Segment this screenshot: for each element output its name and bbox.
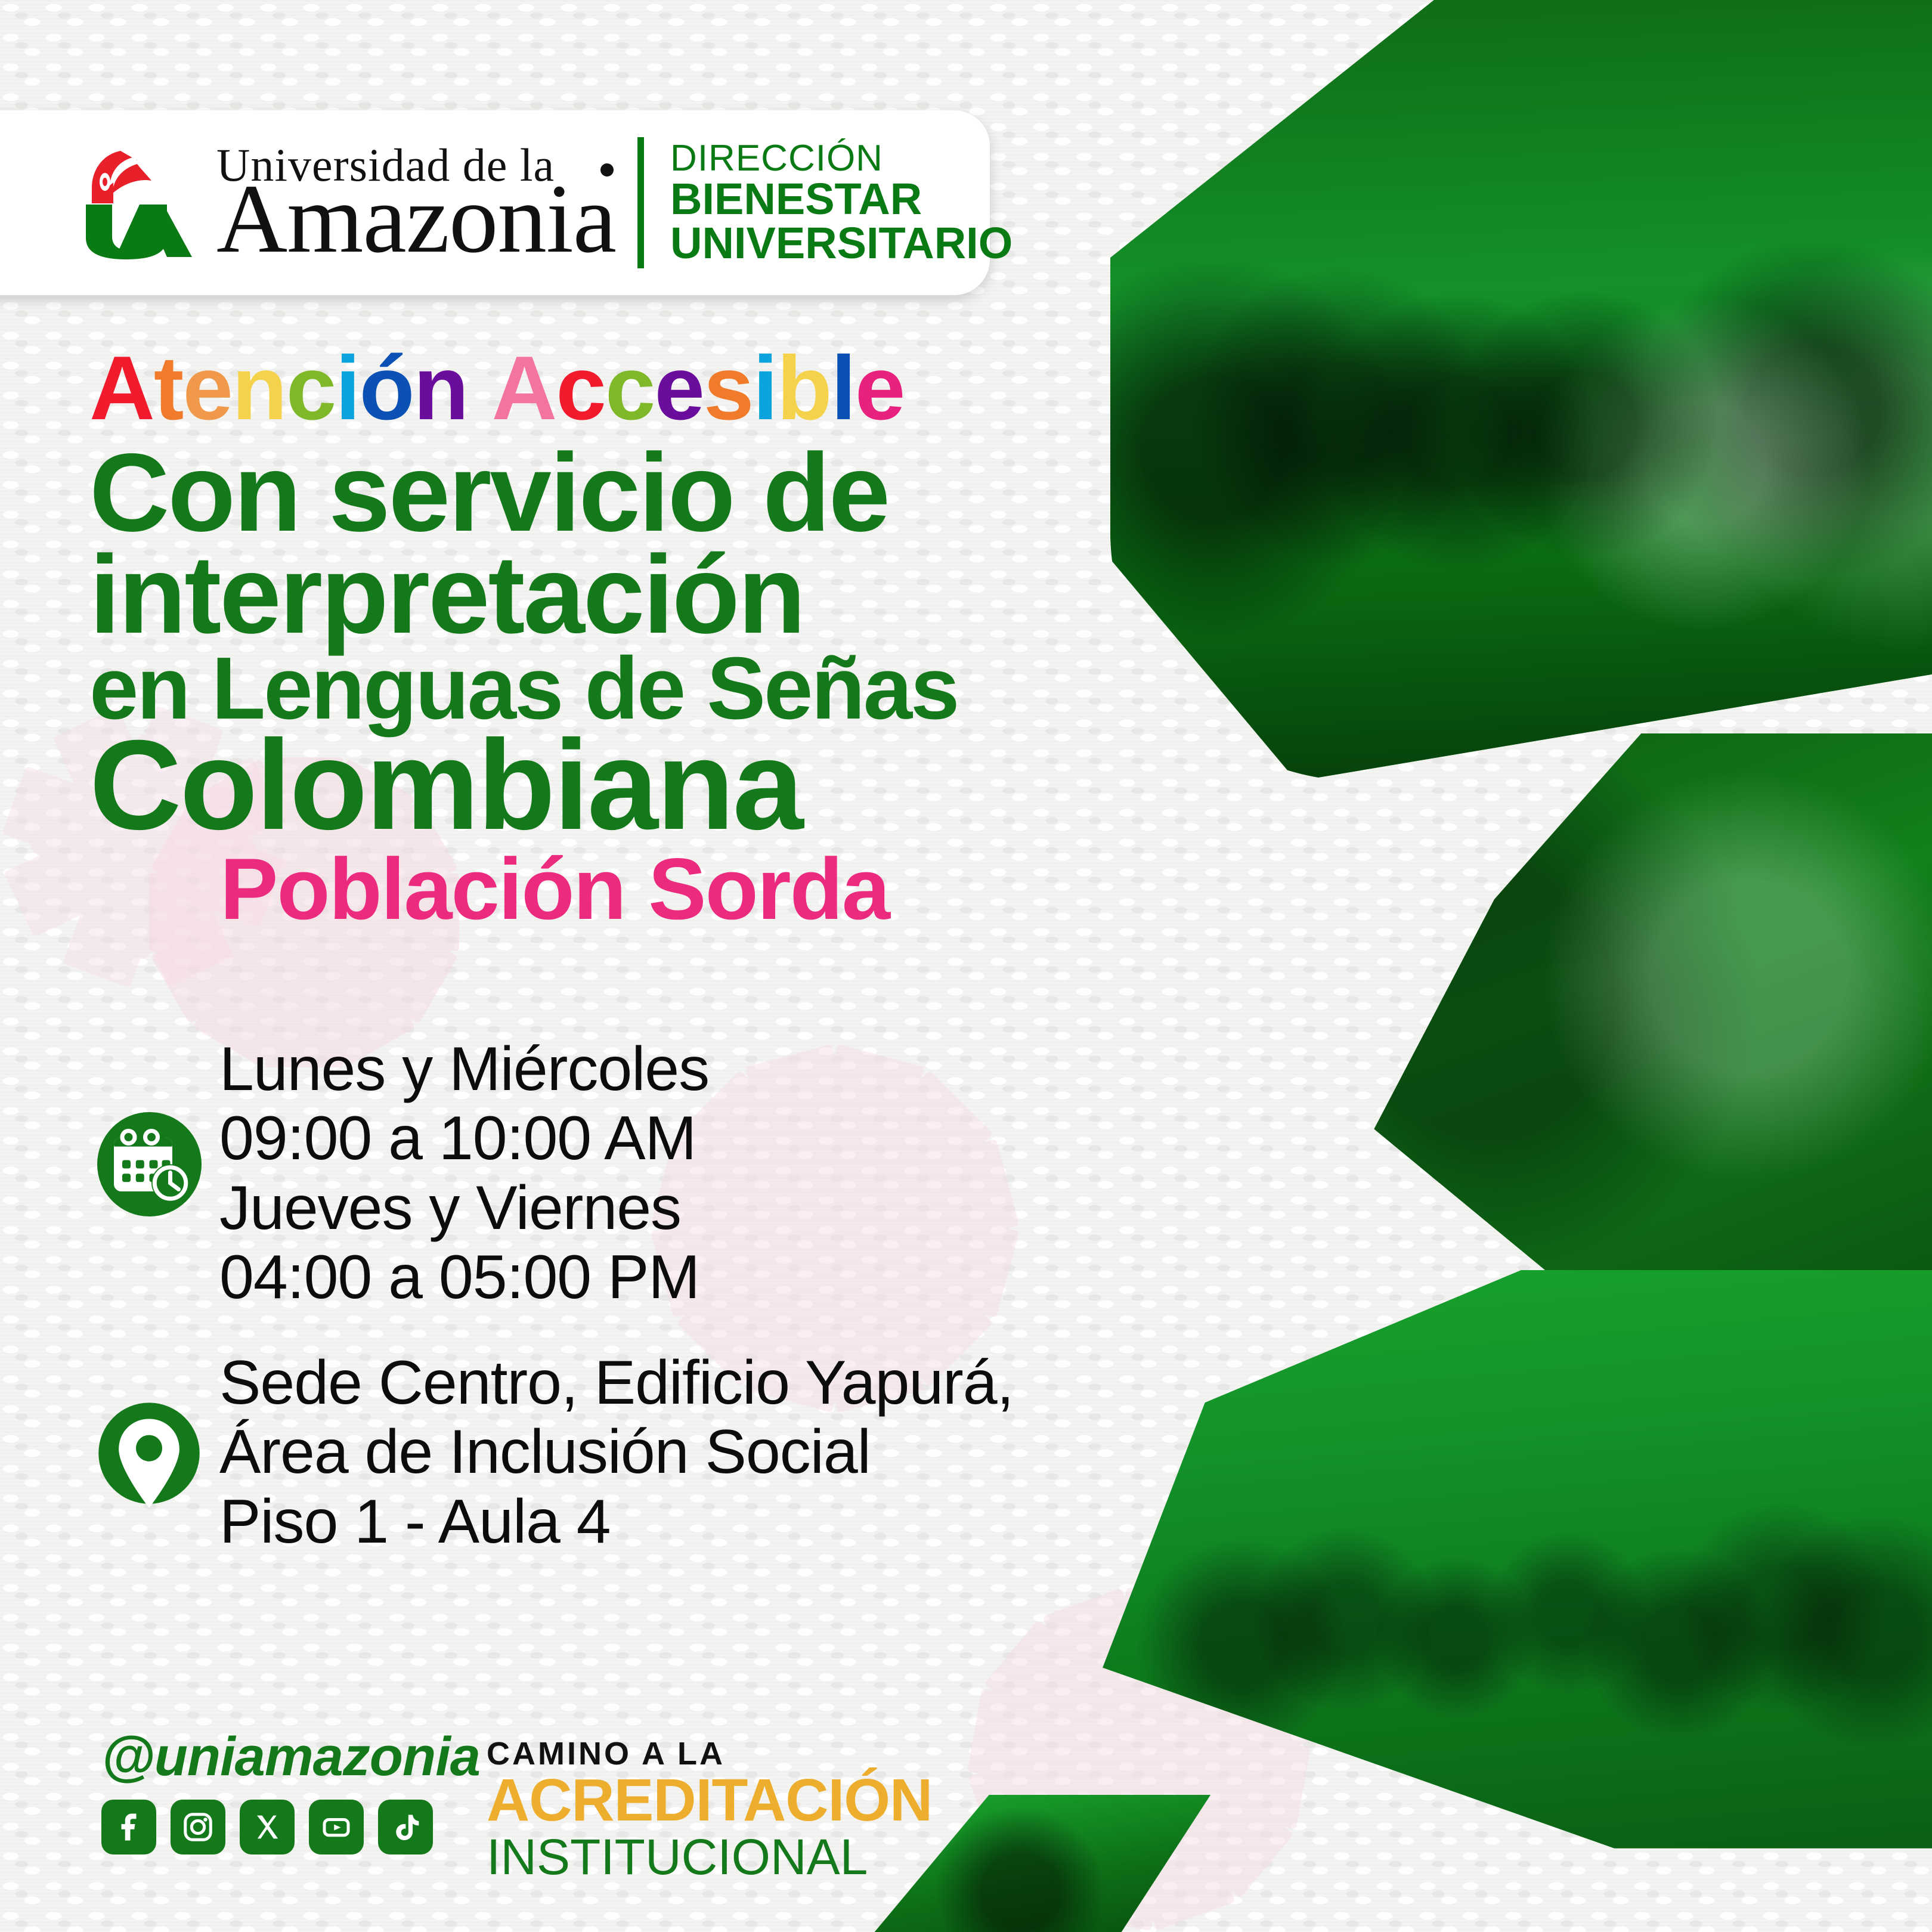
rainbow-letter-8 <box>467 343 491 434</box>
rainbow-letter-5: i <box>335 343 359 434</box>
rainbow-letter-7: n <box>413 343 467 434</box>
poster-canvas: Universidad de la Amazonia DIRECCIÓN BIE… <box>0 0 1932 1932</box>
university-logo-bar: Universidad de la Amazonia DIRECCIÓN BIE… <box>0 110 990 295</box>
department-block: DIRECCIÓN BIENESTAR UNIVERSITARIO <box>670 140 1013 265</box>
schedule-line-4: 04:00 a 05:00 PM <box>219 1243 709 1312</box>
department-line2: BIENESTAR <box>670 177 1013 221</box>
location-text: Sede Centro, Edificio Yapurá, Área de In… <box>209 1348 1014 1556</box>
rainbow-letter-10: c <box>556 343 605 434</box>
location-line-1: Sede Centro, Edificio Yapurá, <box>219 1348 1014 1417</box>
photo-radio-station-group <box>1110 0 1932 781</box>
schedule-text: Lunes y Miércoles 09:00 a 10:00 AM Jueve… <box>209 1035 709 1312</box>
headline-line-4: Colombiana <box>89 727 1067 844</box>
headline-block: Atención Accesible Con servicio de inter… <box>89 343 1067 933</box>
social-icons-row <box>101 1800 465 1854</box>
department-line1: DIRECCIÓN <box>670 140 1013 177</box>
instagram-icon[interactable] <box>171 1800 225 1854</box>
info-block: Lunes y Miércoles 09:00 a 10:00 AM Jueve… <box>89 1035 1103 1592</box>
accreditation-line-1: CAMINO A LA <box>487 1738 932 1770</box>
rainbow-letter-3: n <box>232 343 286 434</box>
location-line-3: Piso 1 - Aula 4 <box>219 1487 1014 1556</box>
logo-divider <box>637 137 644 268</box>
schedule-icon-wrap <box>89 1035 209 1216</box>
university-name-line1: Universidad de la <box>216 145 616 185</box>
rainbow-letter-0: A <box>89 343 154 434</box>
rainbow-letter-6: ó <box>360 343 414 434</box>
accreditation-block: CAMINO A LA ACREDITACIÓN INSTITUCIONAL <box>487 1729 932 1883</box>
schedule-row: Lunes y Miércoles 09:00 a 10:00 AM Jueve… <box>89 1035 1103 1312</box>
headline-line-2: interpretación <box>89 544 1067 646</box>
social-column: @uniamazonia <box>101 1729 465 1854</box>
photo-image <box>1038 1270 1932 1872</box>
rainbow-letter-14: i <box>753 343 777 434</box>
rainbow-title: Atención Accesible <box>89 343 1067 434</box>
rainbow-letter-11: c <box>605 343 655 434</box>
photo-classroom-group <box>1038 1270 1932 1872</box>
rainbow-letter-13: s <box>704 343 753 434</box>
headline-pink-line: Población Sorda <box>89 846 1020 933</box>
rainbow-letter-2: e <box>182 343 232 434</box>
headline-line-1: Con servicio de <box>89 442 1067 544</box>
accreditation-line-2: ACREDITACIÓN <box>487 1770 932 1831</box>
social-handle: @uniamazonia <box>101 1729 465 1784</box>
location-icon-wrap <box>89 1348 209 1520</box>
location-row: Sede Centro, Edificio Yapurá, Área de In… <box>89 1348 1103 1556</box>
department-line3: UNIVERSITARIO <box>670 221 1013 265</box>
calendar-clock-icon <box>97 1112 202 1216</box>
location-line-2: Área de Inclusión Social <box>219 1417 1014 1487</box>
map-pin-icon <box>98 1401 200 1520</box>
x-twitter-icon[interactable] <box>240 1800 295 1854</box>
rainbow-letter-17: e <box>855 343 905 434</box>
schedule-line-1: Lunes y Miércoles <box>219 1035 709 1104</box>
university-wordmark: Universidad de la Amazonia <box>216 145 616 261</box>
schedule-line-3: Jueves y Viernes <box>219 1174 709 1243</box>
tiktok-icon[interactable] <box>378 1800 433 1854</box>
rainbow-letter-12: e <box>654 343 704 434</box>
photo-image <box>1110 0 1932 781</box>
rainbow-letter-9: A <box>492 343 556 434</box>
accreditation-line-3: INSTITUCIONAL <box>487 1831 932 1883</box>
rainbow-letter-1: t <box>154 343 183 434</box>
rainbow-letter-4: c <box>286 343 336 434</box>
footer-block: @uniamazonia <box>101 1729 932 1883</box>
facebook-icon[interactable] <box>101 1800 156 1854</box>
youtube-icon[interactable] <box>309 1800 364 1854</box>
schedule-line-2: 09:00 a 10:00 AM <box>219 1104 709 1173</box>
universidad-amazonia-logo <box>78 146 206 259</box>
rainbow-letter-16: l <box>831 343 855 434</box>
rainbow-letter-15: b <box>777 343 831 434</box>
